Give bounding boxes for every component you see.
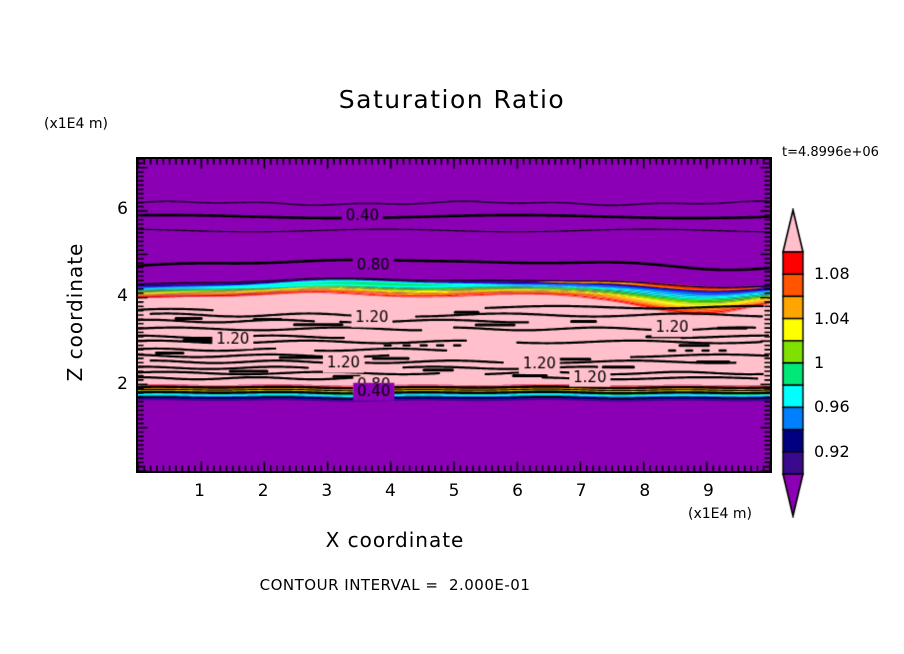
y-axis-title: Z coordinate [63, 222, 87, 402]
colorbar[interactable] [780, 208, 806, 518]
x-tick-3: 3 [307, 481, 347, 501]
contour-interval-note: CONTOUR INTERVAL = 2.000E-01 [0, 576, 790, 594]
y-tick-4: 4 [100, 286, 128, 306]
x-tick-5: 5 [434, 481, 474, 501]
x-tick-1: 1 [180, 481, 220, 501]
page-title: Saturation Ratio [0, 85, 904, 114]
y-tick-6: 6 [100, 199, 128, 219]
colorbar-tick-1: 1 [814, 353, 824, 372]
x-tick-2: 2 [243, 481, 283, 501]
x-tick-6: 6 [498, 481, 538, 501]
y-axis-unit-label: (x1E4 m) [44, 116, 108, 132]
x-tick-4: 4 [370, 481, 410, 501]
colorbar-tick-0-96: 0.96 [814, 397, 850, 416]
colorbar-tick-1-08: 1.08 [814, 264, 850, 283]
figure-canvas: Saturation Ratio (x1E4 m) t=4.8996e+06 (… [0, 0, 904, 654]
x-tick-9: 9 [688, 481, 728, 501]
colorbar-swatches [780, 208, 806, 518]
x-tick-7: 7 [561, 481, 601, 501]
x-tick-8: 8 [625, 481, 665, 501]
contour-plot-area[interactable] [136, 157, 772, 473]
colorbar-tick-0-92: 0.92 [814, 442, 850, 461]
colorbar-tick-1-04: 1.04 [814, 309, 850, 328]
y-tick-2: 2 [100, 374, 128, 394]
x-axis-unit-label: (x1E4 m) [688, 506, 752, 522]
time-annotation: t=4.8996e+06 [782, 145, 879, 160]
x-axis-title: X coordinate [0, 528, 790, 552]
contour-field [138, 159, 770, 471]
